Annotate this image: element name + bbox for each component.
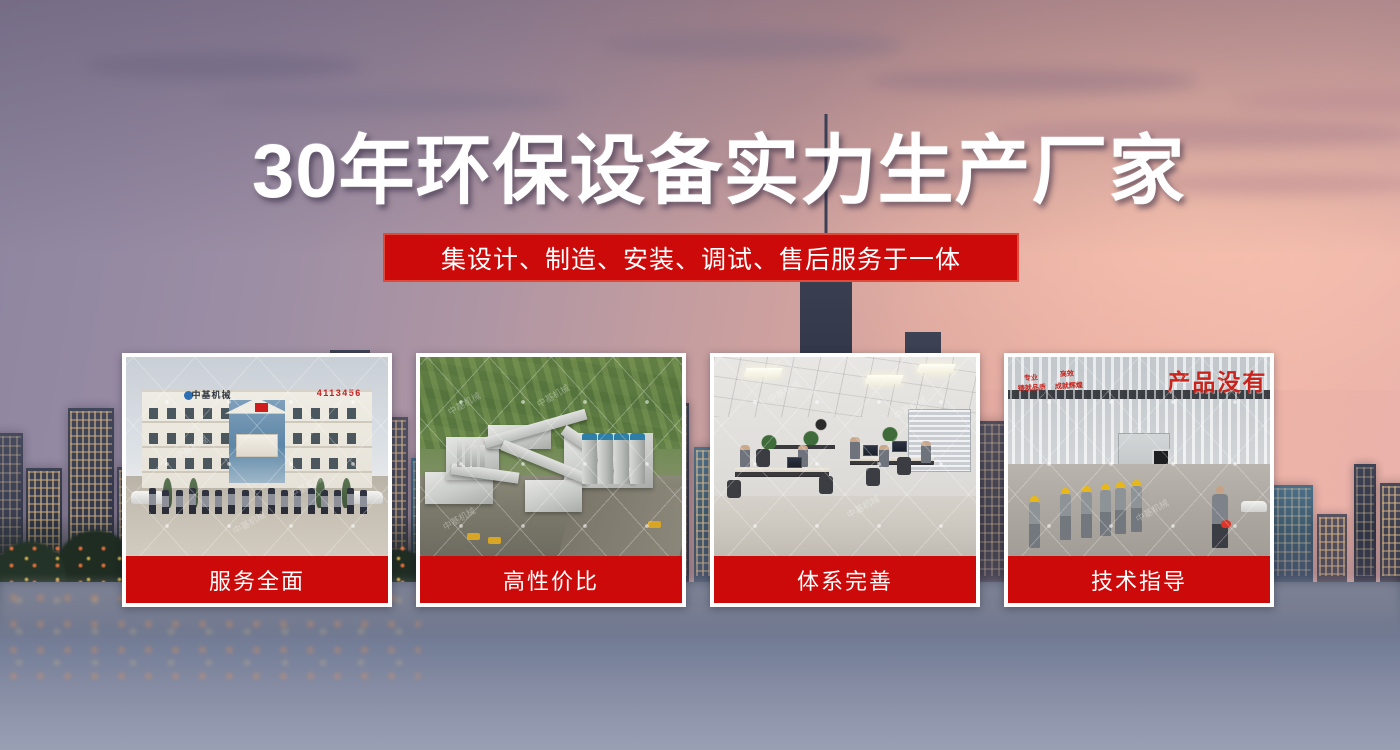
office-interior-photo: 中基机械 中基机械 中基机械 [714, 357, 976, 556]
subtitle-banner: 集设计、制造、安装、调试、售后服务于一体 [383, 233, 1019, 282]
feature-card[interactable]: 中基机械 中基机械 中基机械 高性价比 [416, 353, 686, 607]
building-company-sign: 中基机械 [192, 388, 232, 401]
staff-member [189, 488, 196, 514]
feature-card-row: 中基机械 4113456 中基机械 中基机械 中基机械 服务全面 [122, 353, 1284, 607]
office-ceiling [714, 357, 976, 417]
feature-card-label: 高性价比 [420, 556, 682, 603]
staff-member [268, 488, 275, 514]
staff-member [228, 488, 235, 514]
staff-lineup [147, 484, 367, 514]
plant-building [525, 480, 583, 512]
promo-banner: 30年环保设备实力生产厂家 集设计、制造、安装、调试、售后服务于一体 [0, 0, 1400, 750]
flag-icon [255, 403, 268, 412]
cloud [210, 90, 570, 112]
feature-card-label: 体系完善 [714, 556, 976, 603]
office-floor [714, 496, 976, 556]
staff-member [255, 490, 262, 514]
cloud [84, 53, 364, 79]
factory-slogan-left-sub: 铸就品质 [1018, 384, 1046, 394]
staff-member [294, 490, 301, 514]
staff-member [334, 490, 341, 514]
cloud [602, 30, 902, 60]
cloud [868, 68, 1198, 94]
factory-workers-photo: 产品没有 专业 铸就品质 高效 成就辉煌 [1008, 357, 1270, 556]
building-phone-sign: 4113456 [317, 388, 362, 398]
feature-card[interactable]: 产品没有 专业 铸就品质 高效 成就辉煌 [1004, 353, 1274, 607]
feature-card[interactable]: 中基机械 中基机械 中基机械 体系完善 [710, 353, 980, 607]
aerial-plant-photo: 中基机械 中基机械 中基机械 [420, 357, 682, 556]
factory-slogan-right: 高效 [1060, 371, 1074, 380]
staff-member [281, 490, 288, 514]
staff-member [360, 490, 367, 514]
staff-member [321, 490, 328, 514]
staff-member [176, 490, 183, 514]
staff-member [308, 488, 315, 514]
office-building [142, 389, 373, 489]
staff-member [202, 490, 209, 514]
supervisor-person [1212, 486, 1228, 548]
feature-card-label: 技术指导 [1008, 556, 1270, 603]
parked-car [1241, 501, 1267, 512]
company-headquarters-photo: 中基机械 4113456 中基机械 中基机械 中基机械 [126, 357, 388, 556]
factory-slogan-right-sub: 成就辉煌 [1055, 382, 1083, 392]
feature-card[interactable]: 中基机械 4113456 中基机械 中基机械 中基机械 服务全面 [122, 353, 392, 607]
staff-member [149, 488, 156, 514]
factory-slogan-left: 专业 [1023, 375, 1037, 384]
staff-member [215, 490, 222, 514]
building-entrance [236, 434, 278, 457]
factory-main-sign: 产品没有 [1167, 363, 1267, 397]
staff-member [242, 490, 249, 514]
staff-member [347, 488, 354, 514]
staff-member [162, 490, 169, 514]
subtitle-text: 集设计、制造、安装、调试、售后服务于一体 [441, 240, 961, 276]
feature-card-label: 服务全面 [126, 556, 388, 603]
page-title: 30年环保设备实力生产厂家 [252, 134, 1186, 210]
